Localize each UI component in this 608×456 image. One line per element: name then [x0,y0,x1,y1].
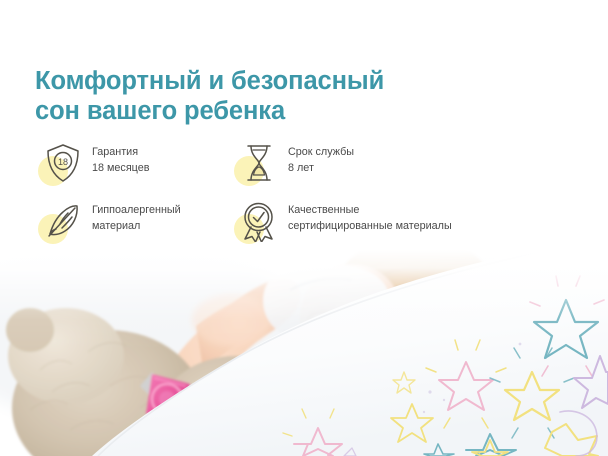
feature-list: 18 Гарантия 18 месяцев [36,140,576,256]
feature-label: Качественные сертифицированные материалы [278,198,452,234]
feather-icon [44,200,82,242]
feature-item-warranty: 18 Гарантия 18 месяцев [36,140,150,190]
icon-container [36,198,82,248]
page-title: Комфортный и безопасный сон вашего ребен… [35,66,455,126]
icon-container [232,140,278,190]
hourglass-icon [240,142,278,184]
feature-label: Гарантия 18 месяцев [82,140,150,176]
banner-content: Комфортный и безопасный сон вашего ребен… [0,0,608,456]
shield-18-icon: 18 [44,142,82,184]
icon-container [232,198,278,248]
feature-row: Гиппоалергенный материал [36,198,576,256]
award-check-icon [240,200,278,242]
svg-text:18: 18 [58,157,68,167]
feature-item-lifespan: Срок службы 8 лет [232,140,354,190]
feature-label: Срок службы 8 лет [278,140,354,176]
feature-item-certified: Качественные сертифицированные материалы [232,198,452,248]
promo-banner: Комфортный и безопасный сон вашего ребен… [0,0,608,456]
feature-label: Гиппоалергенный материал [82,198,181,234]
feature-item-hypoallergenic: Гиппоалергенный материал [36,198,181,248]
icon-container: 18 [36,140,82,190]
feature-row: 18 Гарантия 18 месяцев [36,140,576,198]
